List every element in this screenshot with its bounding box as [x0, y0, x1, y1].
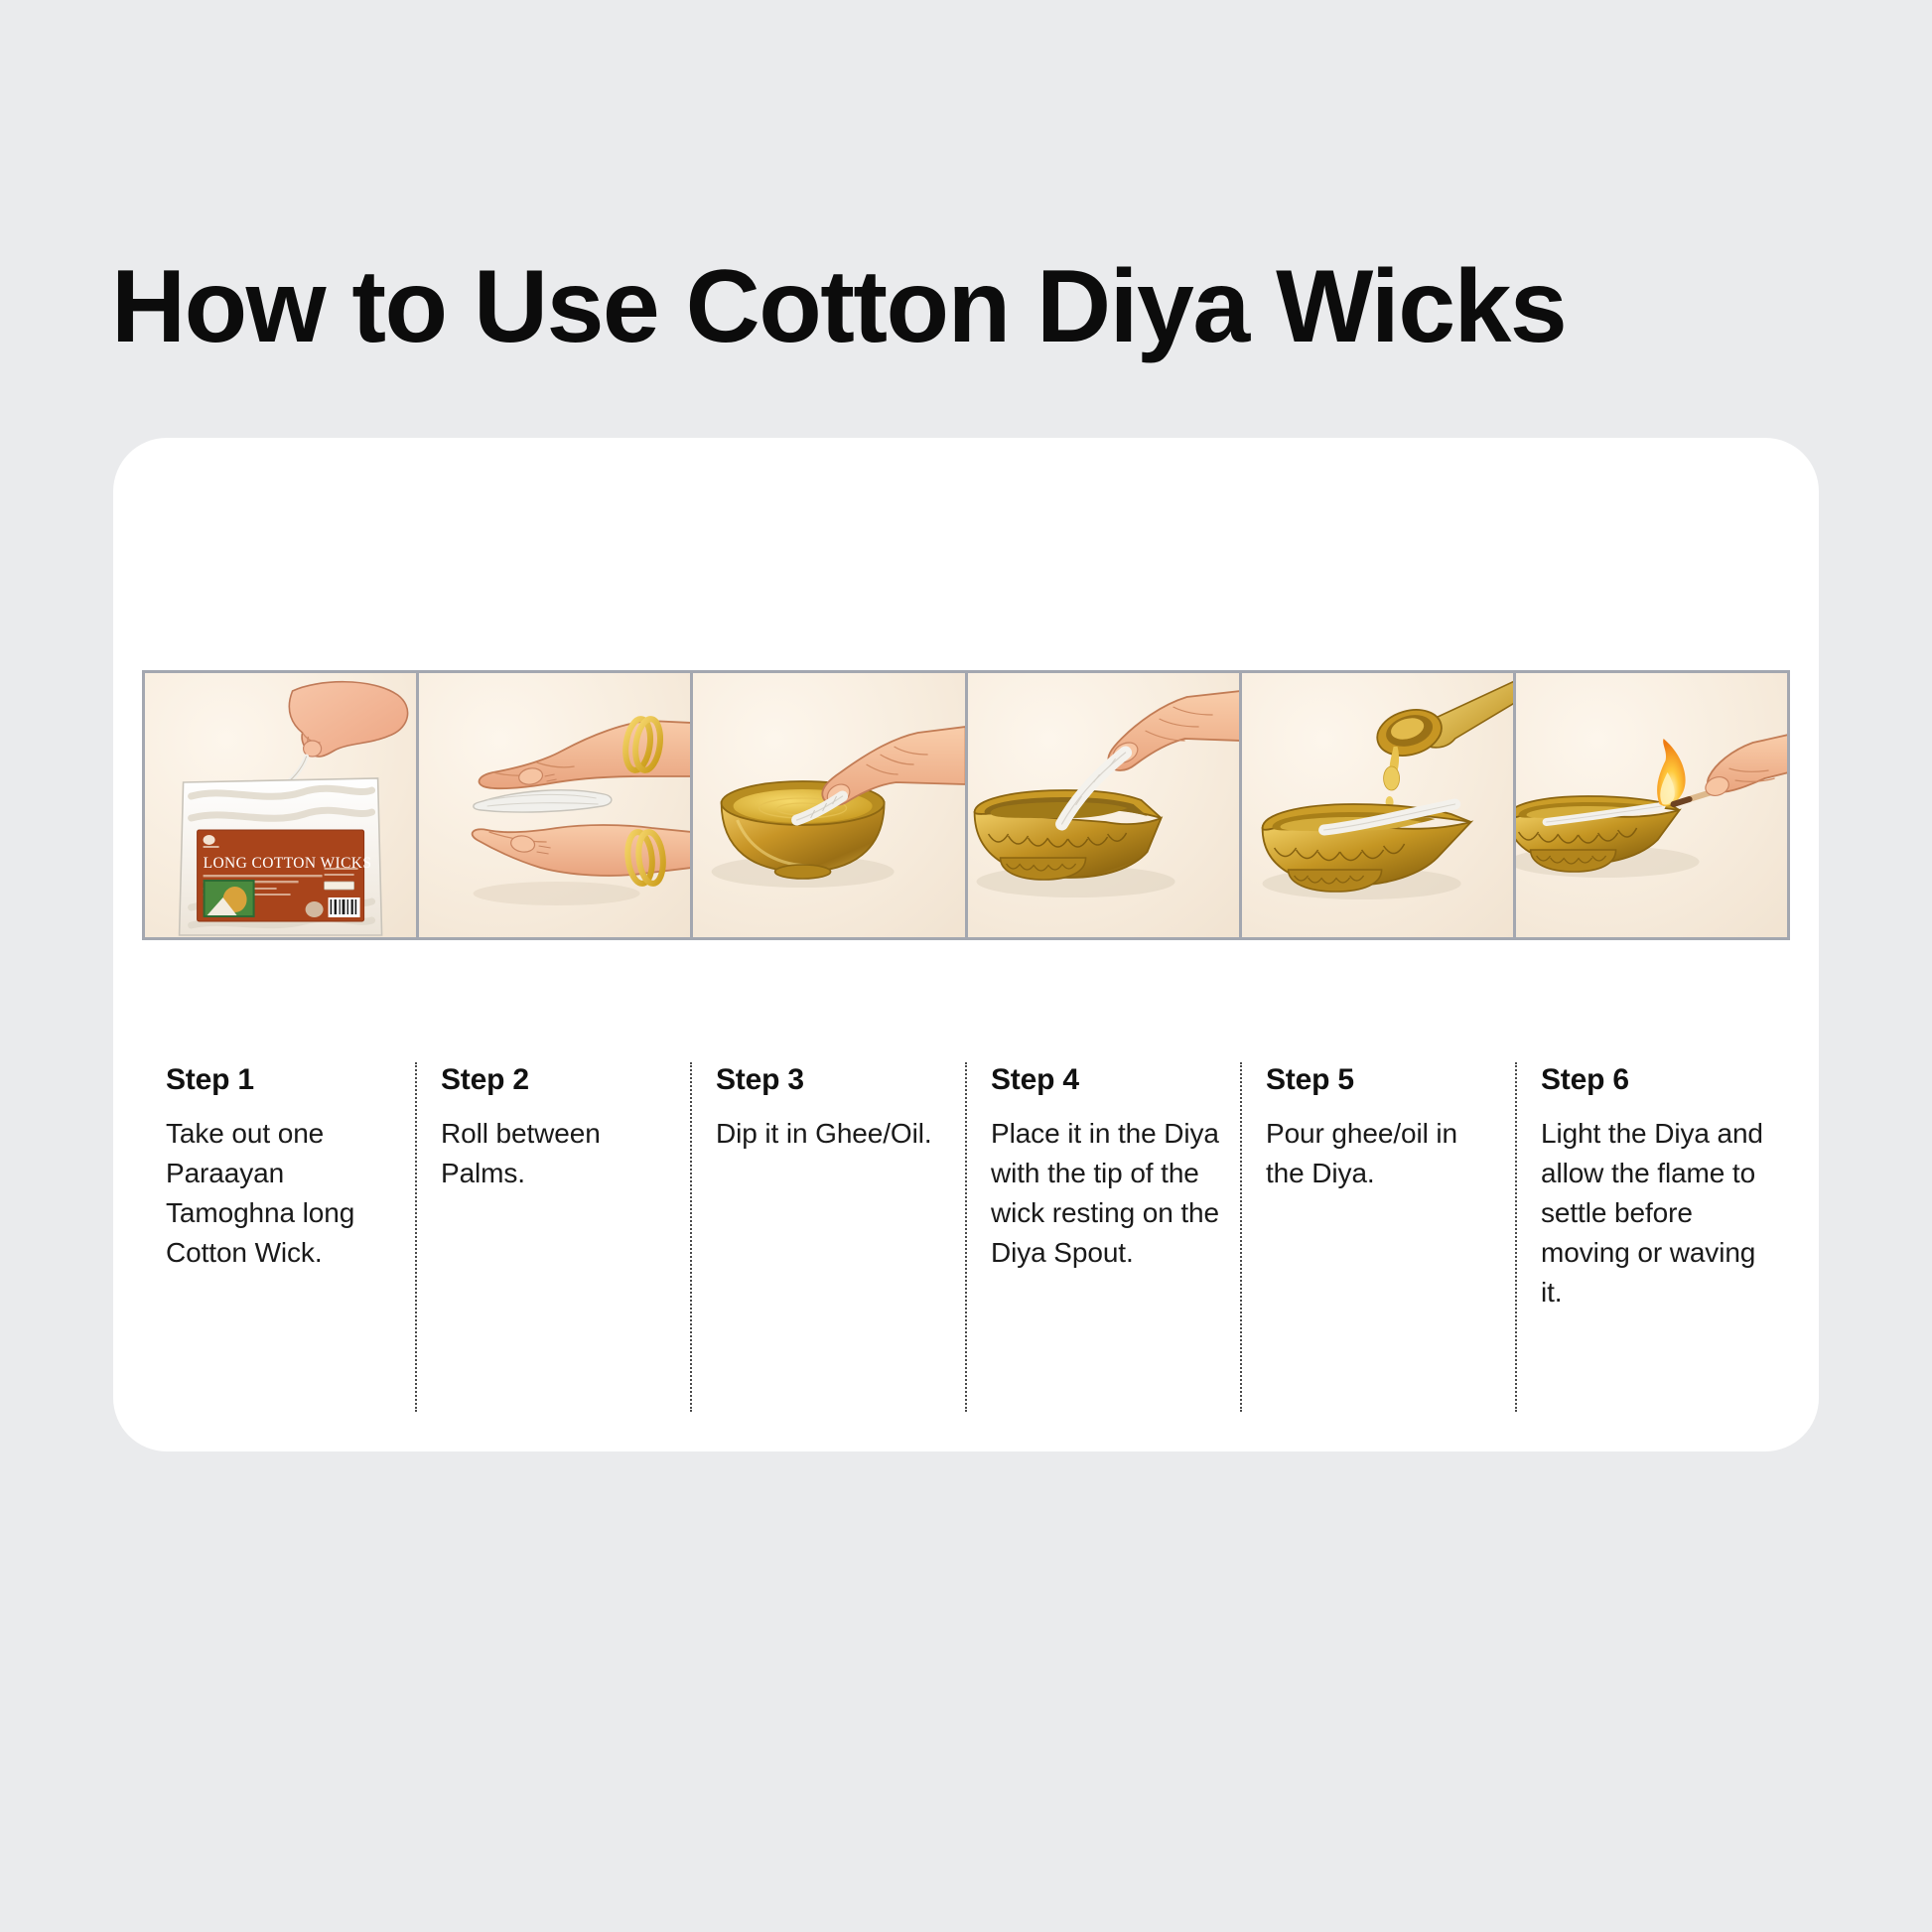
placing-wick-illustration: [968, 673, 1239, 937]
step-body-4: Place it in the Diya with the tip of the…: [991, 1114, 1222, 1273]
step-title-3: Step 3: [716, 1062, 947, 1098]
infographic-page: How to Use Cotton Diya Wicks: [0, 0, 1932, 1932]
step-title-6: Step 6: [1541, 1062, 1772, 1098]
content-card: LONG COTTON WICKS: [113, 438, 1819, 1451]
step-title-1: Step 1: [166, 1062, 397, 1098]
step-title-4: Step 4: [991, 1062, 1222, 1098]
wick-packet-illustration: LONG COTTON WICKS: [145, 673, 416, 937]
steps-row: Step 1 Take out one Paraayan Tamoghna lo…: [142, 1062, 1790, 1412]
page-title: How to Use Cotton Diya Wicks: [111, 251, 1566, 362]
step-title-2: Step 2: [441, 1062, 672, 1098]
step-column-1: Step 1 Take out one Paraayan Tamoghna lo…: [142, 1062, 415, 1412]
step-body-1: Take out one Paraayan Tamoghna long Cott…: [166, 1114, 397, 1273]
lighting-diya-illustration: [1516, 673, 1787, 937]
step-column-5: Step 5 Pour ghee/oil in the Diya.: [1240, 1062, 1515, 1412]
illustration-strip: LONG COTTON WICKS: [142, 670, 1790, 940]
lighting-diya-panel: [1516, 673, 1787, 937]
step-body-2: Roll between Palms.: [441, 1114, 672, 1193]
dipping-bowl-illustration: [693, 673, 964, 937]
dipping-bowl-panel: [693, 673, 967, 937]
step-body-6: Light the Diya and allow the flame to se…: [1541, 1114, 1772, 1312]
placing-wick-panel: [968, 673, 1242, 937]
step-title-5: Step 5: [1266, 1062, 1497, 1098]
pouring-ghee-illustration: [1242, 673, 1513, 937]
rolling-palms-panel: [419, 673, 693, 937]
pouring-ghee-panel: [1242, 673, 1516, 937]
wick-packet-panel: LONG COTTON WICKS: [145, 673, 419, 937]
step-column-2: Step 2 Roll between Palms.: [415, 1062, 690, 1412]
step-column-6: Step 6 Light the Diya and allow the flam…: [1515, 1062, 1790, 1412]
step-column-3: Step 3 Dip it in Ghee/Oil.: [690, 1062, 965, 1412]
step-column-4: Step 4 Place it in the Diya with the tip…: [965, 1062, 1240, 1412]
rolling-palms-illustration: [419, 673, 690, 937]
step-body-5: Pour ghee/oil in the Diya.: [1266, 1114, 1497, 1193]
step-body-3: Dip it in Ghee/Oil.: [716, 1114, 947, 1154]
